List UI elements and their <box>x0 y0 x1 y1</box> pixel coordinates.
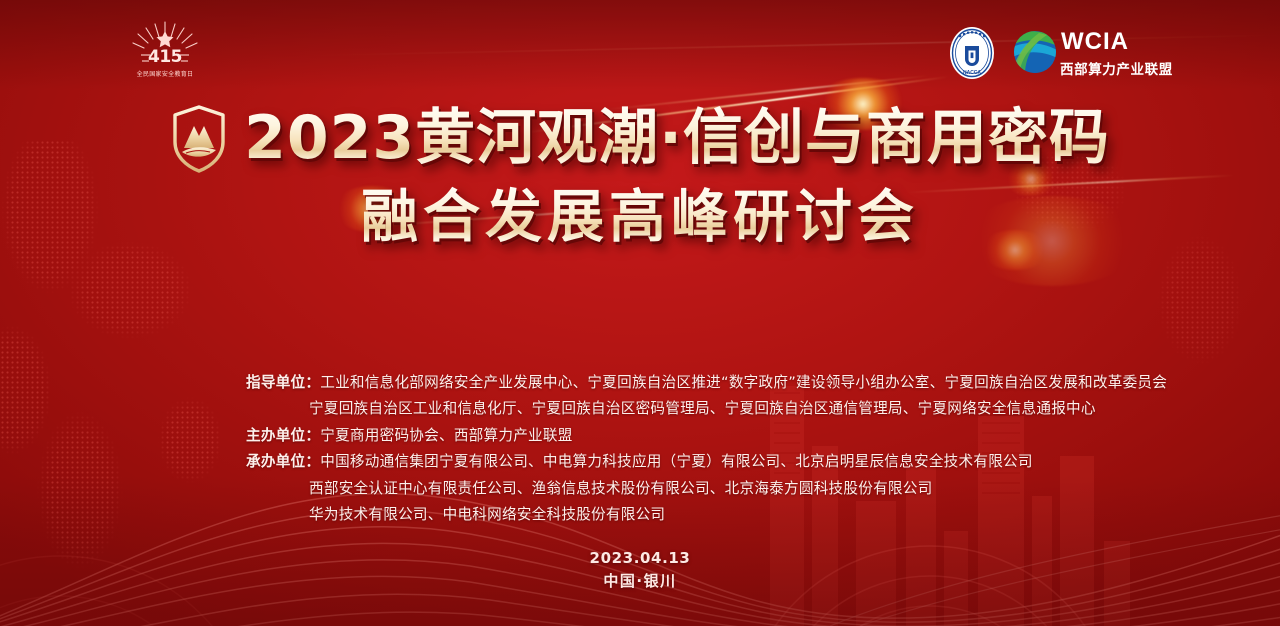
yellow-river-shield-emblem <box>170 104 228 174</box>
event-footer: 2023.04.13 中国·银川 <box>0 549 1280 591</box>
organizer-line: 主办单位：宁夏商用密码协会、西部算力产业联盟 <box>246 423 1066 449</box>
organizer-text: 宁夏商用密码协会、西部算力产业联盟 <box>320 427 572 444</box>
wcia-abbr: WCIA <box>1061 28 1129 56</box>
wcia-caption: 西部算力产业联盟 <box>1060 58 1173 78</box>
organizer-line: 华为技术有限公司、中电科网络安全科技股份有限公司 <box>246 502 1066 528</box>
organizer-text: 华为技术有限公司、中电科网络安全科技股份有限公司 <box>309 506 665 523</box>
415-caption: 全民国家安全教育日 <box>128 69 202 78</box>
event-location: 中国·银川 <box>0 570 1280 591</box>
organizer-text: 宁夏回族自治区工业和信息化厅、宁夏回族自治区密码管理局、宁夏回族自治区通信管理局… <box>309 400 1096 417</box>
organizer-line: 宁夏回族自治区工业和信息化厅、宁夏回族自治区密码管理局、宁夏回族自治区通信管理局… <box>246 396 1066 422</box>
wcia-logo: WCIA 西部算力产业联盟 <box>1013 27 1155 81</box>
conference-poster: 415 全民国家安全教育日 NACCA <box>0 0 1280 626</box>
organizer-label: 主办单位： <box>246 427 320 444</box>
organizer-line: 承办单位：中国移动通信集团宁夏有限公司、中电算力科技应用（宁夏）有限公司、北京启… <box>246 449 1066 475</box>
poster-title: 2023黄河观潮·信创与商用密码 融合发展高峰研讨会 <box>0 104 1280 250</box>
title-line-1: 2023黄河观潮·信创与商用密码 <box>244 105 1110 172</box>
organizer-label: 承办单位： <box>246 453 320 470</box>
nacca-seal-logo: NACCA <box>949 26 995 80</box>
svg-text:NACCA: NACCA <box>963 70 981 76</box>
organizer-text: 西部安全认证中心有限责任公司、渔翁信息技术股份有限公司、北京海泰方圆科技股份有限… <box>309 480 932 497</box>
organizer-text: 工业和信息化部网络安全产业发展中心、宁夏回族自治区推进“数字政府”建设领导小组办… <box>320 374 1167 391</box>
organizer-line: 西部安全认证中心有限责任公司、渔翁信息技术股份有限公司、北京海泰方圆科技股份有限… <box>246 476 1066 502</box>
415-number: 415 <box>128 47 202 67</box>
organizer-text: 中国移动通信集团宁夏有限公司、中电算力科技应用（宁夏）有限公司、北京启明星辰信息… <box>320 453 1033 470</box>
organizer-list: 指导单位：工业和信息化部网络安全产业发展中心、宁夏回族自治区推进“数字政府”建设… <box>246 370 1066 528</box>
title-line-2: 融合发展高峰研讨会 <box>361 186 919 250</box>
organizer-label: 指导单位： <box>246 374 320 391</box>
organizer-line: 指导单位：工业和信息化部网络安全产业发展中心、宁夏回族自治区推进“数字政府”建设… <box>246 370 1066 396</box>
event-date: 2023.04.13 <box>0 549 1280 567</box>
415-national-security-education-day-logo: 415 全民国家安全教育日 <box>128 20 202 78</box>
